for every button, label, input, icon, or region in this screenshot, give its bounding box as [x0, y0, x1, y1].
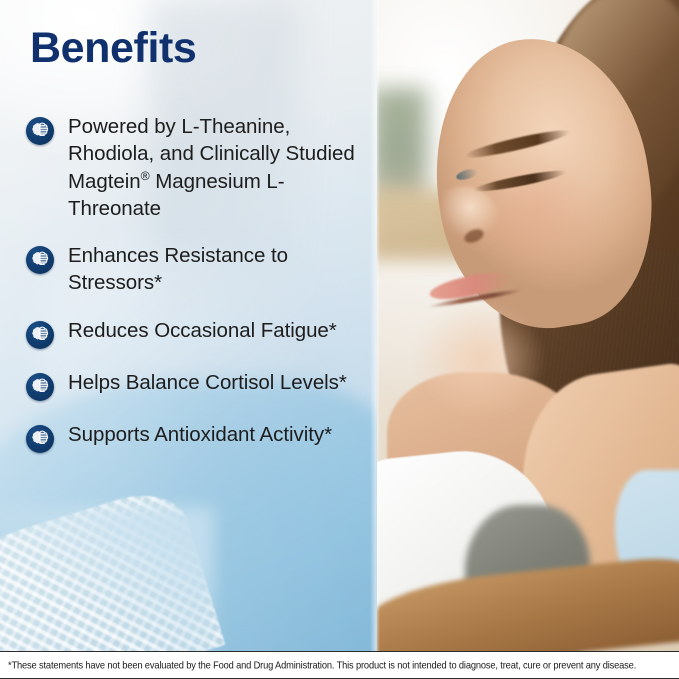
brain-icon: [26, 373, 54, 401]
benefit-text: Powered by L-Theanine, Rhodiola, and Cli…: [68, 113, 366, 222]
benefit-item: Powered by L-Theanine, Rhodiola, and Cli…: [26, 113, 366, 222]
benefit-text: Reduces Occasional Fatigue*: [68, 317, 337, 344]
benefits-list: Powered by L-Theanine, Rhodiola, and Cli…: [26, 113, 366, 453]
fda-disclaimer-text: *These statements have not been evaluate…: [8, 659, 636, 670]
page-title: Benefits: [30, 27, 196, 70]
benefits-poster: Benefits Powered by L-Theanine, Rhodiola…: [0, 0, 679, 679]
brain-icon: [26, 425, 54, 453]
brain-icon: [26, 117, 54, 145]
benefit-text: Supports Antioxidant Activity*: [68, 421, 332, 448]
relaxing-woman-photo: [377, 0, 679, 651]
photo-chin: [415, 300, 545, 420]
benefit-item: Enhances Resistance to Stressors*: [26, 242, 366, 297]
brain-icon: [26, 321, 54, 349]
benefits-content: Benefits Powered by L-Theanine, Rhodiola…: [0, 0, 378, 651]
benefit-text: Helps Balance Cortisol Levels*: [68, 369, 347, 396]
benefit-item: Supports Antioxidant Activity*: [26, 421, 366, 453]
brain-icon: [26, 246, 54, 274]
benefit-item: Helps Balance Cortisol Levels*: [26, 369, 366, 401]
benefit-item: Reduces Occasional Fatigue*: [26, 317, 366, 349]
benefit-text: Enhances Resistance to Stressors*: [68, 242, 366, 297]
fda-disclaimer: *These statements have not been evaluate…: [0, 651, 679, 679]
